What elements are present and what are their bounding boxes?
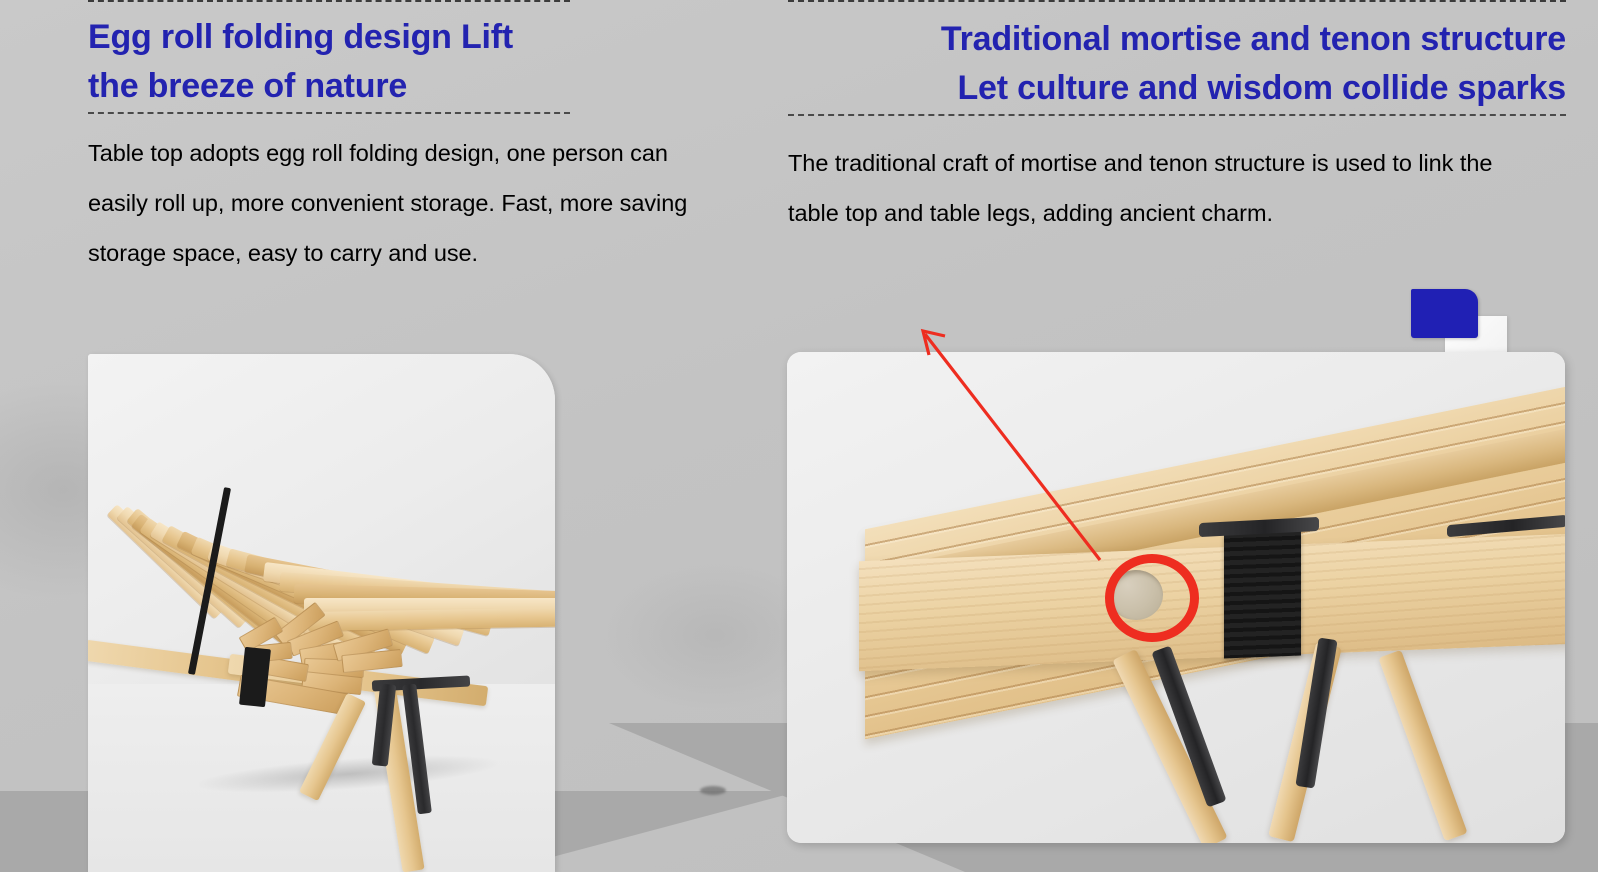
blue-corner-tab	[1411, 289, 1478, 338]
left-photo-artwork	[88, 354, 555, 872]
arrow-shaft	[925, 334, 1100, 560]
right-column: Traditional mortise and tenon structure …	[788, 0, 1566, 238]
right-heading-line-1: Traditional mortise and tenon structure	[788, 15, 1566, 64]
right-heading: Traditional mortise and tenon structure …	[788, 2, 1566, 114]
right-heading-bottom-rule	[788, 114, 1566, 116]
left-heading-line-1: Egg roll folding design	[88, 18, 452, 56]
left-column: Egg roll folding design Lift the breeze …	[88, 0, 568, 278]
left-body-text: Table top adopts egg roll folding design…	[88, 128, 734, 278]
left-product-photo	[88, 354, 555, 872]
left-heading: Egg roll folding design Lift the breeze …	[88, 2, 568, 112]
right-body-text: The traditional craft of mortise and ten…	[788, 138, 1548, 238]
background-shadow-pinch	[700, 786, 726, 795]
right-photo-leg-far	[1378, 650, 1467, 841]
mortise-pointer-arrow	[900, 320, 1180, 570]
right-photo-webbing-strap	[1224, 531, 1301, 659]
left-heading-bottom-rule	[88, 112, 570, 114]
slide-canvas: Egg roll folding design Lift the breeze …	[0, 0, 1598, 872]
left-photo-slat	[308, 607, 555, 631]
right-heading-line-2: Let culture and wisdom collide sparks	[788, 64, 1566, 113]
